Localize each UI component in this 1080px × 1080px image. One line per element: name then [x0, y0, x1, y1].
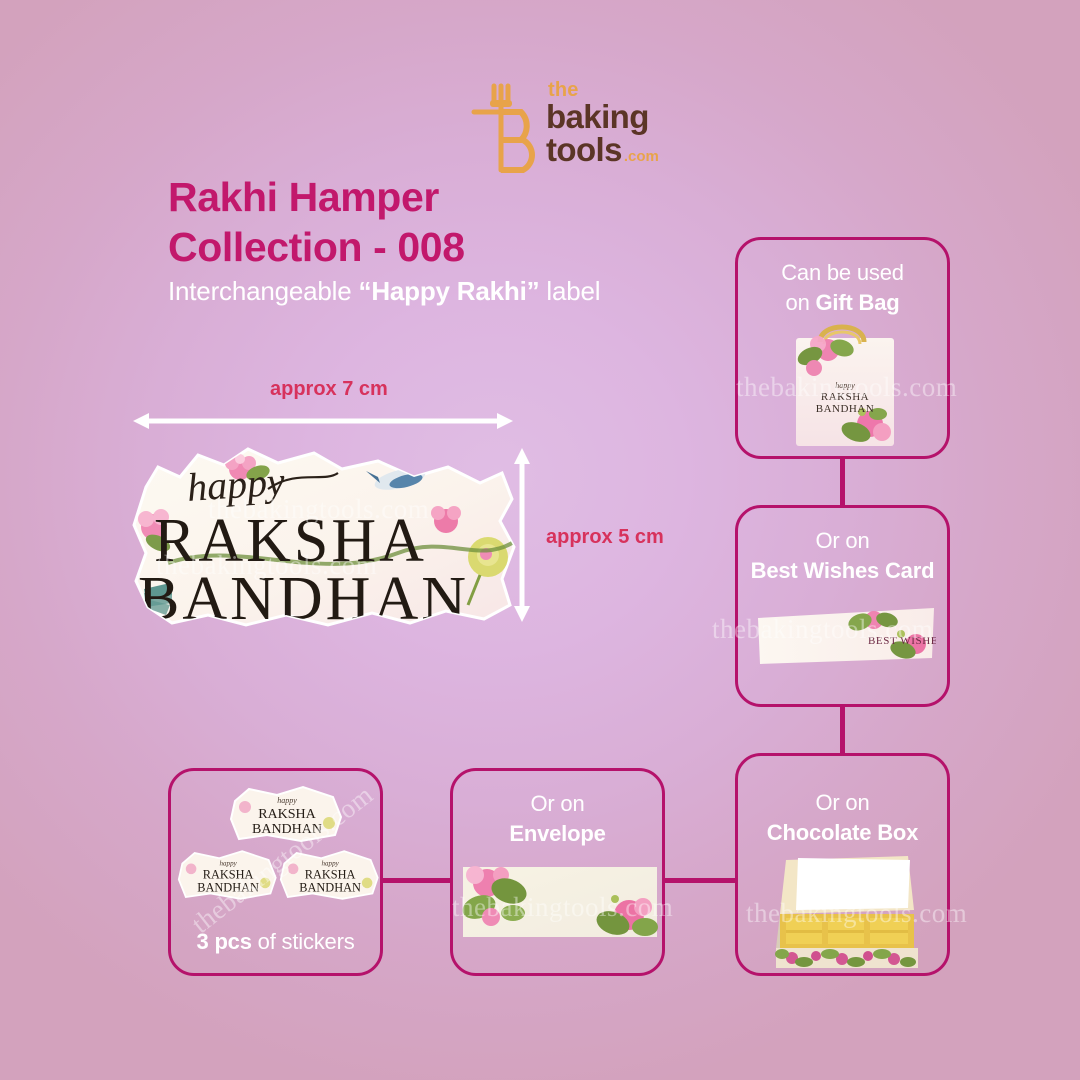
- svg-text:RAKSHA: RAKSHA: [821, 391, 869, 403]
- caption-emphasis: Chocolate Box: [767, 820, 918, 845]
- svg-text:happy: happy: [220, 859, 238, 867]
- logo-text-com: .com: [624, 148, 659, 165]
- logo-text-baking: baking: [546, 101, 696, 133]
- page-subtitle: Interchangeable “Happy Rakhi” label: [168, 276, 768, 307]
- gift-bag-photo: happy RAKSHA BANDHAN: [790, 320, 900, 448]
- svg-text:happy: happy: [277, 796, 297, 805]
- sticker-thumb-right: happy RAKSHA BANDHAN: [279, 849, 383, 901]
- svg-text:happy: happy: [322, 859, 340, 867]
- svg-text:happy: happy: [835, 381, 855, 390]
- svg-text:BANDHAN: BANDHAN: [252, 822, 322, 837]
- connector-envelope-to-chocolate: [665, 878, 735, 883]
- svg-text:RAKSHA: RAKSHA: [203, 868, 254, 882]
- sticker-thumb-left: happy RAKSHA BANDHAN: [177, 849, 281, 901]
- card-best-wishes-caption: Or on Best Wishes Card: [738, 526, 947, 585]
- card-best-wishes[interactable]: Or on Best Wishes Card BEST WISHES: [735, 505, 950, 707]
- title-line-2: Collection - 008: [168, 222, 728, 272]
- whisk-b-monogram-icon: [468, 82, 552, 174]
- infographic-canvas: the baking tools .com Rakhi Hamper Colle…: [0, 0, 1080, 1080]
- logo-text-the: the: [548, 80, 696, 100]
- best-wishes-text: BEST WISHES: [868, 635, 936, 647]
- sticker-thumb-top: happy RAKSHA BANDHAN: [229, 785, 347, 843]
- caption-line-1: Or on: [530, 791, 584, 816]
- svg-text:BANDHAN: BANDHAN: [299, 881, 361, 895]
- page-title: Rakhi Hamper Collection - 008: [168, 172, 728, 272]
- card-stickers[interactable]: happy RAKSHA BANDHAN happy RAKSHA BANDHA…: [168, 768, 383, 976]
- card-chocolate-box[interactable]: Or on Chocolate Box: [735, 753, 950, 976]
- height-dimension-label: approx 5 cm: [546, 526, 664, 549]
- width-arrow-icon: [133, 408, 513, 434]
- card-envelope[interactable]: Or on Envelope: [450, 768, 665, 976]
- caption-line-2-prefix: on: [786, 290, 816, 315]
- caption-line-1: Or on: [815, 790, 869, 815]
- caption-suffix: of stickers: [252, 929, 355, 954]
- card-chocolate-box-caption: Or on Chocolate Box: [738, 788, 947, 847]
- logo-text-tools: tools: [546, 134, 622, 166]
- caption-emphasis: Gift Bag: [816, 290, 900, 315]
- best-wishes-card-photo: BEST WISHES: [756, 606, 936, 666]
- main-sticker-artwork: happy RAKSHA BANDHAN: [128, 443, 528, 633]
- svg-text:RAKSHA: RAKSHA: [258, 807, 316, 822]
- connector-wishes-to-chocolate: [840, 707, 845, 753]
- caption-line-1: Can be used: [781, 260, 904, 285]
- envelope-photo: [461, 863, 659, 941]
- svg-text:BANDHAN: BANDHAN: [138, 565, 469, 633]
- card-gift-bag[interactable]: Can be used on Gift Bag: [735, 237, 950, 459]
- card-stickers-caption: 3 pcs of stickers: [171, 927, 380, 957]
- chocolate-box-photo: [758, 854, 934, 970]
- card-gift-bag-caption: Can be used on Gift Bag: [738, 258, 947, 317]
- svg-text:BANDHAN: BANDHAN: [197, 881, 259, 895]
- svg-text:happy: happy: [185, 458, 286, 510]
- svg-text:BANDHAN: BANDHAN: [816, 403, 875, 415]
- caption-emphasis: Best Wishes Card: [751, 558, 935, 583]
- caption-emphasis: 3 pcs: [197, 929, 252, 954]
- svg-text:RAKSHA: RAKSHA: [305, 868, 356, 882]
- subtitle-emphasis: “Happy Rakhi”: [359, 276, 540, 306]
- title-line-1: Rakhi Hamper: [168, 172, 728, 222]
- connector-stickers-to-envelope: [383, 878, 450, 883]
- brand-logo: the baking tools .com: [468, 78, 688, 178]
- caption-emphasis: Envelope: [509, 821, 605, 846]
- subtitle-prefix: Interchangeable: [168, 276, 359, 306]
- subtitle-suffix: label: [539, 276, 600, 306]
- connector-giftbag-to-wishes: [840, 459, 845, 505]
- width-dimension-label: approx 7 cm: [270, 378, 388, 401]
- caption-line-1: Or on: [815, 528, 869, 553]
- card-envelope-caption: Or on Envelope: [453, 789, 662, 848]
